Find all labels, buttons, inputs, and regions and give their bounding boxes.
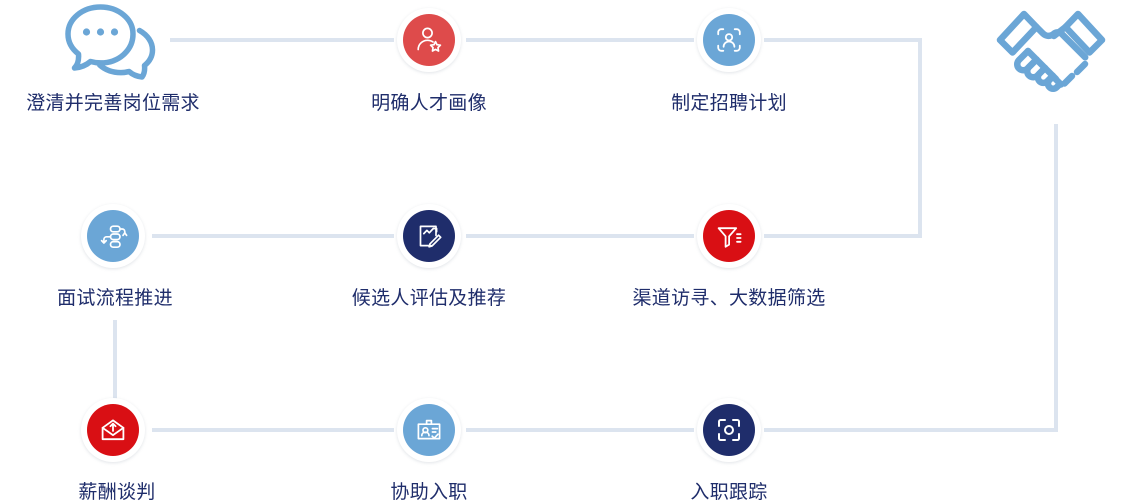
node-step-2[interactable] [397, 8, 461, 72]
recruitment-flow-diagram: 澄清并完善岗位需求 明确人才画像 [0, 0, 1126, 501]
label-step-1: 澄清并完善岗位需求 [26, 88, 200, 115]
connector-step4-step7 [113, 320, 117, 402]
connector-step9-right [764, 428, 1058, 432]
document-pencil-icon [414, 221, 444, 251]
id-badge-check-icon [414, 415, 444, 445]
label-step-6: 渠道访寻、大数据筛选 [632, 283, 825, 310]
connector-step3-right [764, 38, 922, 42]
label-step-9: 入职跟踪 [690, 477, 767, 504]
node-step-8[interactable] [397, 398, 461, 462]
connector-step6-step5 [466, 234, 694, 238]
node-step-5[interactable] [397, 204, 461, 268]
label-step-5: 候选人评估及推荐 [352, 283, 506, 310]
connector-right-up-to-handshake [1054, 124, 1058, 432]
handshake-icon [992, 6, 1110, 103]
label-step-8: 协助入职 [390, 477, 467, 504]
label-step-3: 制定招聘计划 [671, 88, 787, 115]
label-step-7: 薪酬谈判 [78, 477, 155, 504]
focus-target-icon [714, 415, 744, 445]
connector-into-step6 [764, 234, 922, 238]
chat-bubbles-icon [61, 3, 165, 81]
node-step-9[interactable] [697, 398, 761, 462]
node-step-6[interactable] [697, 204, 761, 268]
node-step-3[interactable] [697, 8, 761, 72]
connector-step2-step3 [466, 38, 694, 42]
connector-step1-step2 [170, 38, 394, 42]
connector-right-down-to-row2 [918, 38, 922, 236]
node-step-1[interactable] [61, 3, 165, 81]
connector-step7-step8 [152, 428, 394, 432]
label-step-4: 面试流程推进 [57, 283, 173, 310]
envelope-offer-icon [98, 415, 128, 445]
connector-step8-step9 [466, 428, 694, 432]
workflow-arrows-icon [98, 221, 128, 251]
funnel-filter-icon [714, 221, 744, 251]
node-step-7[interactable] [81, 398, 145, 462]
label-step-2: 明确人才画像 [371, 88, 487, 115]
node-step-4[interactable] [81, 204, 145, 268]
person-star-icon [414, 25, 444, 55]
connector-step5-step4 [152, 234, 394, 238]
person-target-frame-icon [714, 25, 744, 55]
